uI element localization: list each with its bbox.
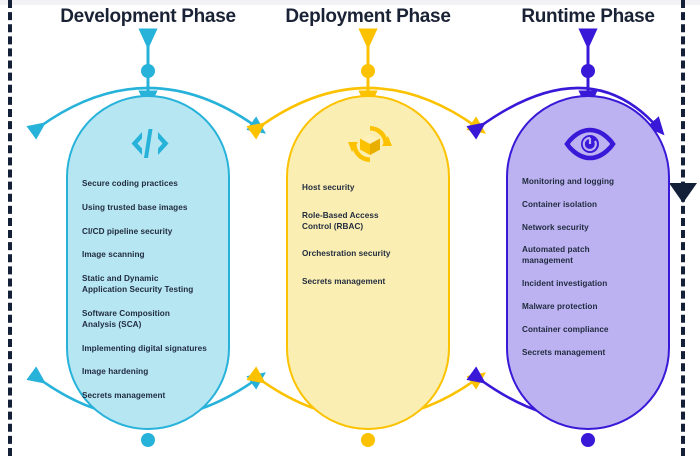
eye-monitor-glyph — [564, 126, 616, 162]
container-refresh-glyph — [347, 122, 393, 166]
list-item: Container isolation — [522, 200, 670, 211]
list-item: Automated patchmanagement — [522, 245, 670, 267]
phase-capsule-development: Secure coding practices Using trusted ba… — [66, 95, 230, 430]
phase-title-development: Development Phase — [38, 6, 258, 28]
phase-column-deployment: Deployment Phase Host security Role-Base… — [258, 0, 478, 456]
phase-items-development: Secure coding practices Using trusted ba… — [82, 179, 230, 415]
phase-column-development: Development Phase Secure coding practice… — [38, 0, 258, 456]
list-item: Implementing digital signatures — [82, 344, 230, 355]
code-brackets-glyph — [127, 126, 173, 162]
list-item: Secrets management — [302, 277, 450, 288]
phase-title-runtime: Runtime Phase — [478, 6, 698, 28]
phase-title-deployment: Deployment Phase — [258, 6, 478, 28]
list-item: CI/CD pipeline security — [82, 227, 230, 238]
phase-items-runtime: Monitoring and logging Container isolati… — [522, 177, 670, 370]
list-item: Host security — [302, 183, 450, 194]
diagram-canvas: Development Phase Secure coding practice… — [0, 0, 700, 456]
list-item: Software CompositionAnalysis (SCA) — [82, 309, 230, 331]
phase-capsule-deployment: Host security Role-Based AccessControl (… — [286, 95, 450, 430]
list-item: Malware protection — [522, 302, 670, 313]
list-item: Role-Based AccessControl (RBAC) — [302, 211, 450, 233]
list-item: Static and DynamicApplication Security T… — [82, 274, 230, 296]
phase-capsule-runtime: Monitoring and logging Container isolati… — [506, 95, 670, 430]
list-item: Using trusted base images — [82, 203, 230, 214]
phase-items-deployment: Host security Role-Based AccessControl (… — [302, 183, 450, 305]
list-item: Incident investigation — [522, 279, 670, 290]
code-brackets-icon — [68, 115, 232, 173]
list-item: Orchestration security — [302, 249, 450, 260]
list-item: Secrets management — [82, 391, 230, 402]
list-item: Monitoring and logging — [522, 177, 670, 188]
phase-column-runtime: Runtime Phase Monitoring and logging Con… — [478, 0, 698, 456]
list-item: Secrets management — [522, 348, 670, 359]
list-item: Image scanning — [82, 250, 230, 261]
container-refresh-icon — [288, 115, 452, 173]
list-item: Image hardening — [82, 367, 230, 378]
list-item: Secure coding practices — [82, 179, 230, 190]
list-item: Network security — [522, 223, 670, 234]
eye-monitor-icon — [508, 115, 672, 173]
list-item: Container compliance — [522, 325, 670, 336]
